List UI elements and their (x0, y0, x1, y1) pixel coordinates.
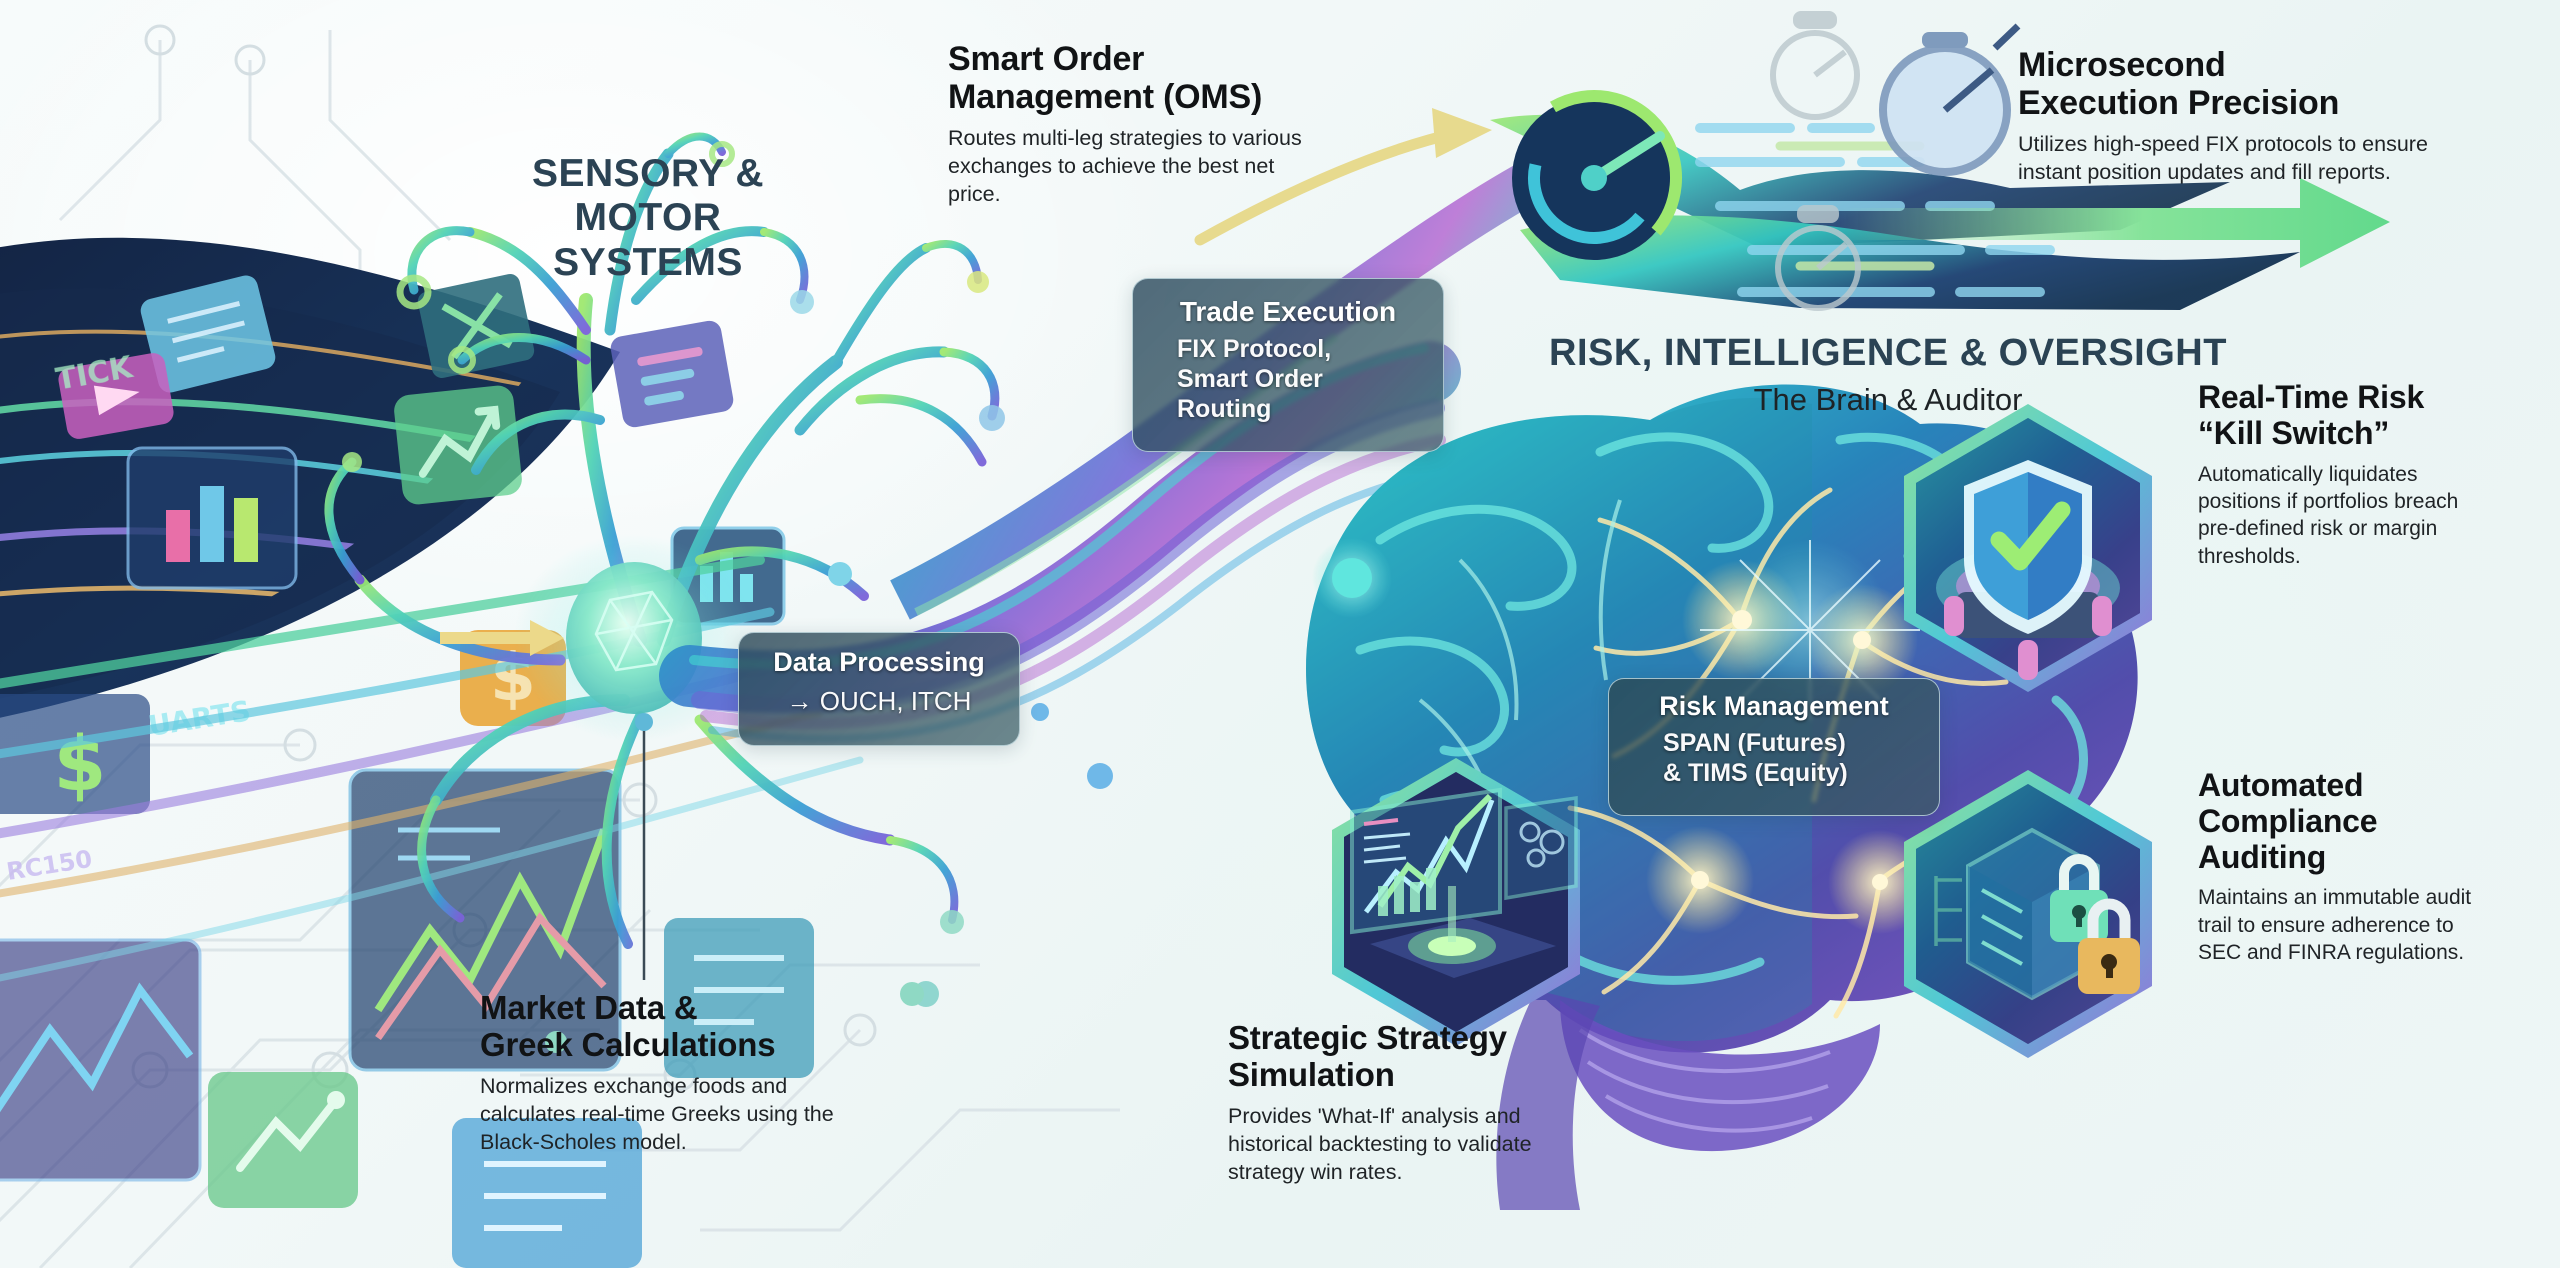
section-heading-line: SENSORY & (498, 152, 798, 196)
callout-title-line: Auditing (2198, 840, 2498, 876)
callout-title-line: Compliance (2198, 804, 2498, 840)
server-stack-icon (1936, 830, 2098, 998)
callout-description: Automatically liquidates positions if po… (2198, 461, 2498, 570)
section-heading-line: SYSTEMS (498, 241, 798, 285)
chip-subtitle-line: & TIMS (Equity) (1663, 758, 1939, 788)
kill-switch-hex-icon (1904, 404, 2152, 692)
chip-subtitle: FIX Protocol, Smart Order Routing (1133, 334, 1443, 424)
neuron-soma (514, 534, 754, 742)
callout-description: Utilizes high-speed FIX protocols to ens… (2018, 131, 2448, 187)
compliance-hex-icon (1904, 770, 2152, 1058)
chip-subtitle-line: Routing (1177, 394, 1443, 424)
lock-icon (2050, 859, 2108, 942)
strategy-sim-hex-icon (1332, 758, 1580, 1046)
chip-subtitle-line: → OUCH, ITCH (739, 686, 1019, 717)
callout-title-line: Market Data & (480, 990, 870, 1027)
callout-description: Normalizes exchange foods and calculates… (480, 1073, 870, 1157)
svg-text:RC150: RC150 (5, 845, 95, 886)
svg-text:TICK: TICK (53, 350, 137, 398)
callout-automated-compliance-auditing: Automated Compliance Auditing Maintains … (2198, 768, 2498, 966)
callout-title: Automated Compliance Auditing (2198, 768, 2498, 875)
callout-title-line: Microsecond (2018, 46, 2448, 84)
infographic-canvas: $ $ TICK (0, 0, 2560, 1268)
callout-title-line: Strategic Strategy (1228, 1020, 1588, 1057)
svg-text:$: $ (490, 639, 536, 716)
section-heading-sensory-motor: SENSORY & MOTOR SYSTEMS (498, 152, 798, 285)
chip-subtitle: → OUCH, ITCH (739, 686, 1019, 717)
callout-title: Microsecond Execution Precision (2018, 46, 2448, 122)
chip-title: Data Processing (739, 647, 1019, 678)
svg-text:$: $ (54, 719, 107, 808)
callout-market-data-greek-calculations: Market Data & Greek Calculations Normali… (480, 990, 870, 1157)
callout-title-line: Real-Time Risk (2198, 380, 2498, 416)
stopwatch-icon (1883, 48, 2007, 172)
callout-description: Routes multi-leg strategies to various e… (948, 125, 1320, 209)
callout-title-line: Management (OMS) (948, 78, 1320, 116)
chip-risk-management[interactable]: Risk Management SPAN (Futures) & TIMS (E… (1608, 678, 1940, 816)
stopwatch-icon (1778, 208, 1858, 308)
data-panel-labels: TICK UARTS RC150 (5, 350, 253, 886)
callout-title-line: Greek Calculations (480, 1027, 870, 1064)
section-subtitle-risk-intelligence: The Brain & Auditor (1548, 382, 2228, 418)
section-heading-line: MOTOR (498, 196, 798, 240)
chip-trade-execution[interactable]: Trade Execution FIX Protocol, Smart Orde… (1132, 278, 1444, 452)
chip-subtitle-line: Smart Order (1177, 364, 1443, 394)
callout-title-line: Simulation (1228, 1057, 1588, 1094)
section-subtitle-text: The Brain & Auditor (1754, 382, 2023, 417)
chip-title: Risk Management (1609, 691, 1939, 722)
callout-title: Strategic Strategy Simulation (1228, 1020, 1588, 1094)
chip-title: Trade Execution (1133, 296, 1443, 328)
brain-entry-node (1312, 538, 1392, 618)
chip-subtitle-line: FIX Protocol, (1177, 334, 1443, 364)
monitor-chart-icon (1352, 790, 1576, 978)
callout-smart-order-management: Smart Order Management (OMS) Routes mult… (948, 40, 1320, 209)
callout-title-line: Execution Precision (2018, 84, 2448, 122)
lock-icon (2078, 904, 2140, 994)
chip-data-processing[interactable]: Data Processing → OUCH, ITCH (738, 632, 1020, 746)
callout-strategic-strategy-simulation: Strategic Strategy Simulation Provides '… (1228, 1020, 1588, 1187)
callout-title-line: Automated (2198, 768, 2498, 804)
stopwatch-icon (1773, 14, 1857, 117)
callout-title: Smart Order Management (OMS) (948, 40, 1320, 116)
section-heading-line: RISK, INTELLIGENCE & OVERSIGHT (1548, 332, 2228, 375)
callout-description: Provides 'What-If' analysis and historic… (1228, 1103, 1588, 1187)
chip-subtitle: SPAN (Futures) & TIMS (Equity) (1609, 728, 1939, 788)
callout-description: Maintains an immutable audit trail to en… (2198, 884, 2498, 966)
svg-text:UARTS: UARTS (146, 694, 253, 743)
callout-real-time-risk-kill-switch: Real-Time Risk “Kill Switch” Automatical… (2198, 380, 2498, 570)
callout-title-line: Smart Order (948, 40, 1320, 78)
data-flow-ribbons (0, 560, 860, 986)
callout-title: Real-Time Risk “Kill Switch” (2198, 380, 2498, 452)
chip-subtitle-line: SPAN (Futures) (1663, 728, 1939, 758)
callout-title: Market Data & Greek Calculations (480, 990, 870, 1064)
callout-microsecond-execution-precision: Microsecond Execution Precision Utilizes… (2018, 46, 2448, 187)
callout-title-line: “Kill Switch” (2198, 416, 2498, 452)
input-arrow-icon (440, 620, 564, 656)
section-heading-risk-intelligence: RISK, INTELLIGENCE & OVERSIGHT (1548, 332, 2228, 375)
